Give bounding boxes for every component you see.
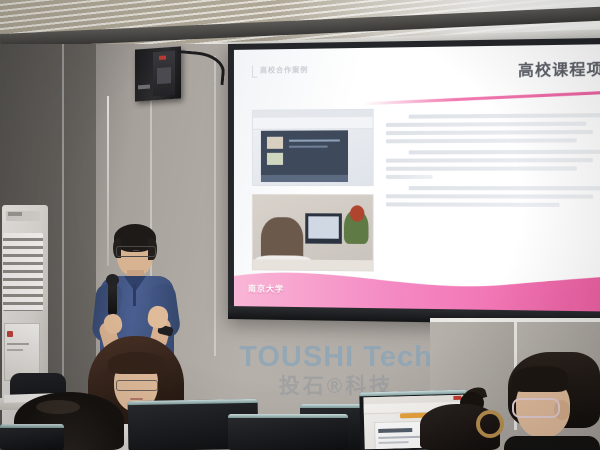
projection-screen-frame: 高校合作案例 高校课程项目 (228, 38, 600, 325)
slide-image-software-screenshot (252, 109, 374, 186)
speaker-label (138, 85, 150, 90)
text-line (409, 150, 600, 155)
projection-screen: 高校合作案例 高校课程项目 (234, 44, 600, 312)
monitor-back (0, 424, 64, 450)
app-text-line (289, 139, 340, 141)
text-line (386, 202, 559, 207)
monitor-top-edge (0, 424, 64, 428)
attendee-hair-highlight (36, 400, 80, 414)
slide-kicker-bracket-icon (252, 66, 257, 78)
classroom-scene: 高校合作案例 高校课程项目 (0, 0, 600, 450)
text-line (386, 175, 433, 179)
app-text-line (289, 146, 328, 148)
ceiling-speaker (135, 46, 181, 101)
attendee-bun (420, 392, 500, 450)
attendee-glasses (512, 398, 560, 418)
app-thumbnail (267, 153, 283, 165)
text-line (386, 194, 593, 198)
attendee-top (504, 436, 600, 450)
monitor-top-edge (228, 414, 348, 418)
text-line (386, 166, 577, 170)
presentation-slide: 高校合作案例 高校课程项目 (234, 44, 600, 312)
microphone-head-icon (106, 274, 119, 286)
app-statusbar (261, 175, 348, 182)
slide-footer-wave: 南京大学 (234, 260, 600, 312)
slide-title-accent-rule (364, 90, 600, 105)
speaker-panel (157, 67, 171, 84)
text-line (386, 122, 586, 127)
text-line (386, 130, 593, 135)
slide-paragraph-1 (386, 113, 600, 143)
presenter-glasses (116, 246, 156, 257)
attendee-fringe (108, 352, 166, 374)
slide-paragraph-3 (386, 186, 600, 207)
text-line (386, 158, 593, 163)
text-line (409, 186, 600, 190)
attendee-right (498, 352, 600, 450)
attendee-glasses (116, 380, 158, 391)
ac-vent-louvres (3, 233, 43, 311)
slide-media-column (252, 109, 374, 272)
photo-flower (350, 205, 364, 221)
ac-brand-logo (8, 212, 22, 216)
photo-monitor-screen (308, 216, 339, 238)
slide-kicker: 高校合作案例 (260, 65, 308, 76)
monitor-top-edge (128, 399, 258, 405)
app-thumbnail (267, 137, 283, 149)
text-line (409, 113, 600, 119)
speaker-led-icon (159, 55, 166, 59)
slide-title: 高校课程项目 (518, 58, 600, 81)
wall-seam (214, 56, 216, 356)
slide-paragraph-2 (386, 150, 600, 179)
ac-display-line (7, 349, 23, 351)
ac-power-led-icon (7, 331, 13, 337)
attendee-fringe (512, 366, 568, 392)
slide-footer-label: 南京大学 (248, 283, 284, 295)
attendee-mouth (130, 398, 143, 400)
monitor-back (228, 414, 348, 450)
partition-top-rail (430, 318, 600, 322)
slide-body-text (386, 109, 600, 214)
ac-display-line (7, 343, 29, 345)
text-line (386, 138, 577, 143)
app-toolbar (253, 117, 373, 130)
presenter-placket (133, 284, 136, 306)
